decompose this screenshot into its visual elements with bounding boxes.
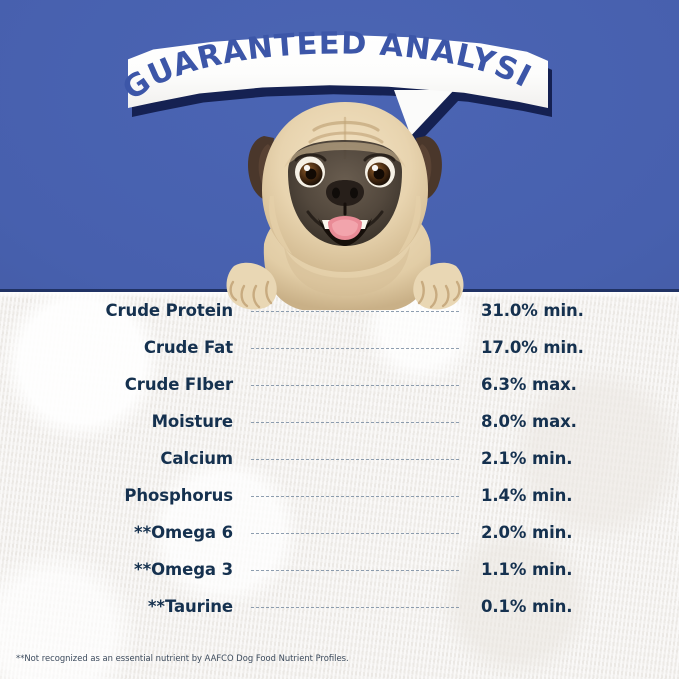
nutrient-amount: 31.0% min.	[467, 301, 679, 320]
nutrient-amount: 17.0% min.	[467, 338, 679, 357]
nutrient-amount: 2.0% min.	[467, 523, 679, 542]
leader-dots	[251, 496, 459, 498]
table-row: Crude Fat 17.0% min.	[0, 329, 679, 366]
nutrient-amount: 1.4% min.	[467, 486, 679, 505]
leader-dots	[251, 422, 459, 424]
leader-dots	[251, 533, 459, 535]
table-row: Crude Protein 31.0% min.	[0, 292, 679, 329]
nutrient-label: Crude Fat	[0, 338, 243, 357]
nutrient-label: Crude FIber	[0, 375, 243, 394]
nutrient-label: **Taurine	[0, 597, 243, 616]
nutrient-amount: 6.3% max.	[467, 375, 679, 394]
leader-dots	[251, 311, 459, 313]
nutrient-label: Crude Protein	[0, 301, 243, 320]
nutrient-label: Moisture	[0, 412, 243, 431]
nutrient-amount: 1.1% min.	[467, 560, 679, 579]
nutrient-label: **Omega 6	[0, 523, 243, 542]
table-row: **Taurine 0.1% min.	[0, 588, 679, 625]
nutrient-label: Phosphorus	[0, 486, 243, 505]
leader-dots	[251, 459, 459, 461]
table-row: Crude FIber 6.3% max.	[0, 366, 679, 403]
footnote: **Not recognized as an essential nutrien…	[16, 653, 349, 663]
table-row: Phosphorus 1.4% min.	[0, 477, 679, 514]
leader-dots	[251, 348, 459, 350]
pug-dog-photo	[218, 96, 472, 312]
guaranteed-analysis-poster: GUARANTEED ANALYSIS	[0, 0, 679, 679]
nutrient-amount: 2.1% min.	[467, 449, 679, 468]
leader-dots	[251, 570, 459, 572]
guaranteed-analysis-table: Crude Protein 31.0% min. Crude Fat 17.0%…	[0, 292, 679, 625]
nutrient-label: **Omega 3	[0, 560, 243, 579]
table-row: Calcium 2.1% min.	[0, 440, 679, 477]
leader-dots	[251, 385, 459, 387]
table-row: **Omega 6 2.0% min.	[0, 514, 679, 551]
leader-dots	[251, 607, 459, 609]
table-row: **Omega 3 1.1% min.	[0, 551, 679, 588]
nutrient-label: Calcium	[0, 449, 243, 468]
nutrient-amount: 8.0% max.	[467, 412, 679, 431]
nutrient-amount: 0.1% min.	[467, 597, 679, 616]
table-row: Moisture 8.0% max.	[0, 403, 679, 440]
